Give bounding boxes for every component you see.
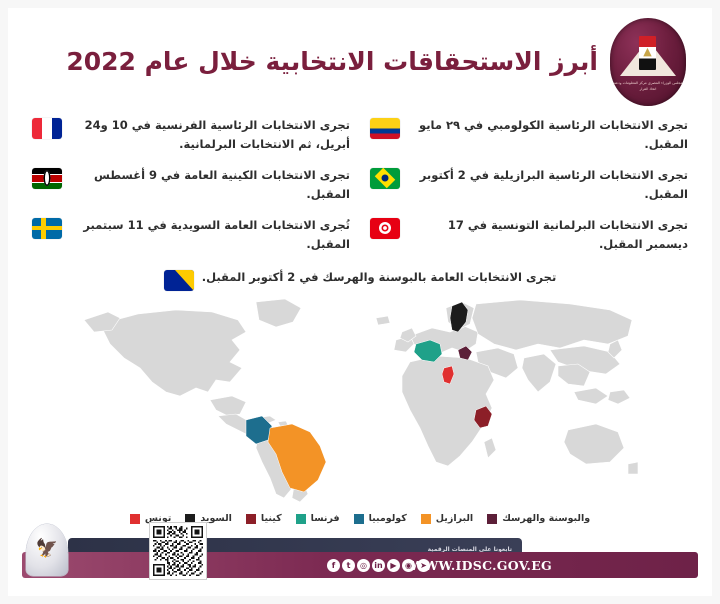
items-row-4: تجرى الانتخابات العامة بالبوسنة والهرسك … <box>26 264 694 295</box>
map-base-landmasses <box>84 299 638 502</box>
page-title: أبرز الاستحقاقات الانتخابية خلال عام 202… <box>34 47 604 77</box>
item-tunisia: تجرى الانتخابات البرلمانية التونسية في 1… <box>364 212 694 258</box>
qr-code[interactable] <box>149 522 207 580</box>
qr-code-svg <box>153 526 203 576</box>
social-links: f t ◎ in ▶ ◉ ➤ <box>327 559 430 572</box>
linkedin-icon[interactable]: in <box>372 559 385 572</box>
item-colombia-text: تجرى الانتخابات الرئاسية الكولومبي في ٢٩… <box>408 116 688 154</box>
item-france: تجرى الانتخابات الرئاسية الفرنسية في 10 … <box>26 112 356 158</box>
legend-item-kenya: كينيا <box>246 513 282 524</box>
item-sweden: تُجرى الانتخابات العامة السويدية في 11 س… <box>26 212 356 258</box>
legend-swatch-france <box>296 514 306 524</box>
legend-swatch-kenya <box>246 514 256 524</box>
legend-item-colombia: كولومبيا <box>354 513 407 524</box>
legend-item-bosnia: والبوسنة والهرسك <box>487 513 590 524</box>
items-list: تجرى الانتخابات الرئاسية الفرنسية في 10 … <box>8 112 712 295</box>
world-map-svg <box>80 296 640 508</box>
france-flag-icon <box>32 118 62 139</box>
item-tunisia-text: تجرى الانتخابات البرلمانية التونسية في 1… <box>408 216 688 254</box>
legend-label-kenya: كينيا <box>261 513 282 524</box>
world-map <box>8 296 712 508</box>
legend-label-colombia: كولومبيا <box>369 513 407 524</box>
bosnia-flag-icon <box>164 270 194 291</box>
legend-label-bosnia: والبوسنة والهرسك <box>502 513 590 524</box>
item-brazil: تجرى الانتخابات الرئاسية البرازيلية في 2… <box>364 162 694 208</box>
eagle-seal-icon: 🦅 <box>26 540 68 558</box>
whatsapp-icon[interactable]: ◉ <box>402 559 415 572</box>
colombia-flag-icon <box>370 118 400 139</box>
items-row-3: تُجرى الانتخابات العامة السويدية في 11 س… <box>26 212 694 258</box>
legend: تونس السويد كينيا فرنسا كولومبيا البرازي… <box>8 513 712 524</box>
item-france-text: تجرى الانتخابات الرئاسية الفرنسية في 10 … <box>70 116 350 154</box>
legend-label-france: فرنسا <box>311 513 340 524</box>
legend-item-brazil: البرازيل <box>421 513 473 524</box>
item-bosnia-text: تجرى الانتخابات العامة بالبوسنة والهرسك … <box>202 268 557 287</box>
tunisia-flag-icon <box>370 218 400 239</box>
legend-swatch-bosnia <box>487 514 497 524</box>
logo-caption: مجلس الوزراء المصرى مركز المعلومات ودعم … <box>610 81 686 92</box>
item-colombia: تجرى الانتخابات الرئاسية الكولومبي في ٢٩… <box>364 112 694 158</box>
facebook-icon[interactable]: f <box>327 559 340 572</box>
footer: تابعونا على المنصات الرقمية WWW.IDSC.GOV… <box>8 530 712 586</box>
egypt-eagle-seal: 🦅 <box>26 524 68 576</box>
instagram-icon[interactable]: ◎ <box>357 559 370 572</box>
items-row-2: تجرى الانتخابات الكينية العامة في 9 أغسط… <box>26 162 694 208</box>
item-sweden-text: تُجرى الانتخابات العامة السويدية في 11 س… <box>70 216 350 254</box>
item-bosnia: تجرى الانتخابات العامة بالبوسنة والهرسك … <box>158 264 563 295</box>
website-link[interactable]: WWW.IDSC.GOV.EG <box>410 558 552 573</box>
item-kenya-text: تجرى الانتخابات الكينية العامة في 9 أغسط… <box>70 166 350 204</box>
youtube-icon[interactable]: ▶ <box>387 559 400 572</box>
infographic-card: أبرز الاستحقاقات الانتخابية خلال عام 202… <box>8 8 712 596</box>
idsc-logo: ▲ مجلس الوزراء المصرى مركز المعلومات ودع… <box>610 18 686 106</box>
item-kenya: تجرى الانتخابات الكينية العامة في 9 أغسط… <box>26 162 356 208</box>
sweden-flag-icon <box>32 218 62 239</box>
legend-swatch-colombia <box>354 514 364 524</box>
brazil-flag-icon <box>370 168 400 189</box>
legend-swatch-brazil <box>421 514 431 524</box>
twitter-icon[interactable]: t <box>342 559 355 572</box>
telegram-icon[interactable]: ➤ <box>417 559 430 572</box>
infographic-page: أبرز الاستحقاقات الانتخابية خلال عام 202… <box>0 0 720 604</box>
items-row-1: تجرى الانتخابات الرئاسية الفرنسية في 10 … <box>26 112 694 158</box>
legend-swatch-tunisia <box>130 514 140 524</box>
kenya-flag-icon <box>32 168 62 189</box>
legend-item-france: فرنسا <box>296 513 340 524</box>
header: أبرز الاستحقاقات الانتخابية خلال عام 202… <box>8 12 712 112</box>
item-brazil-text: تجرى الانتخابات الرئاسية البرازيلية في 2… <box>408 166 688 204</box>
legend-label-brazil: البرازيل <box>436 513 473 524</box>
eagle-icon: ▲ <box>641 45 654 58</box>
